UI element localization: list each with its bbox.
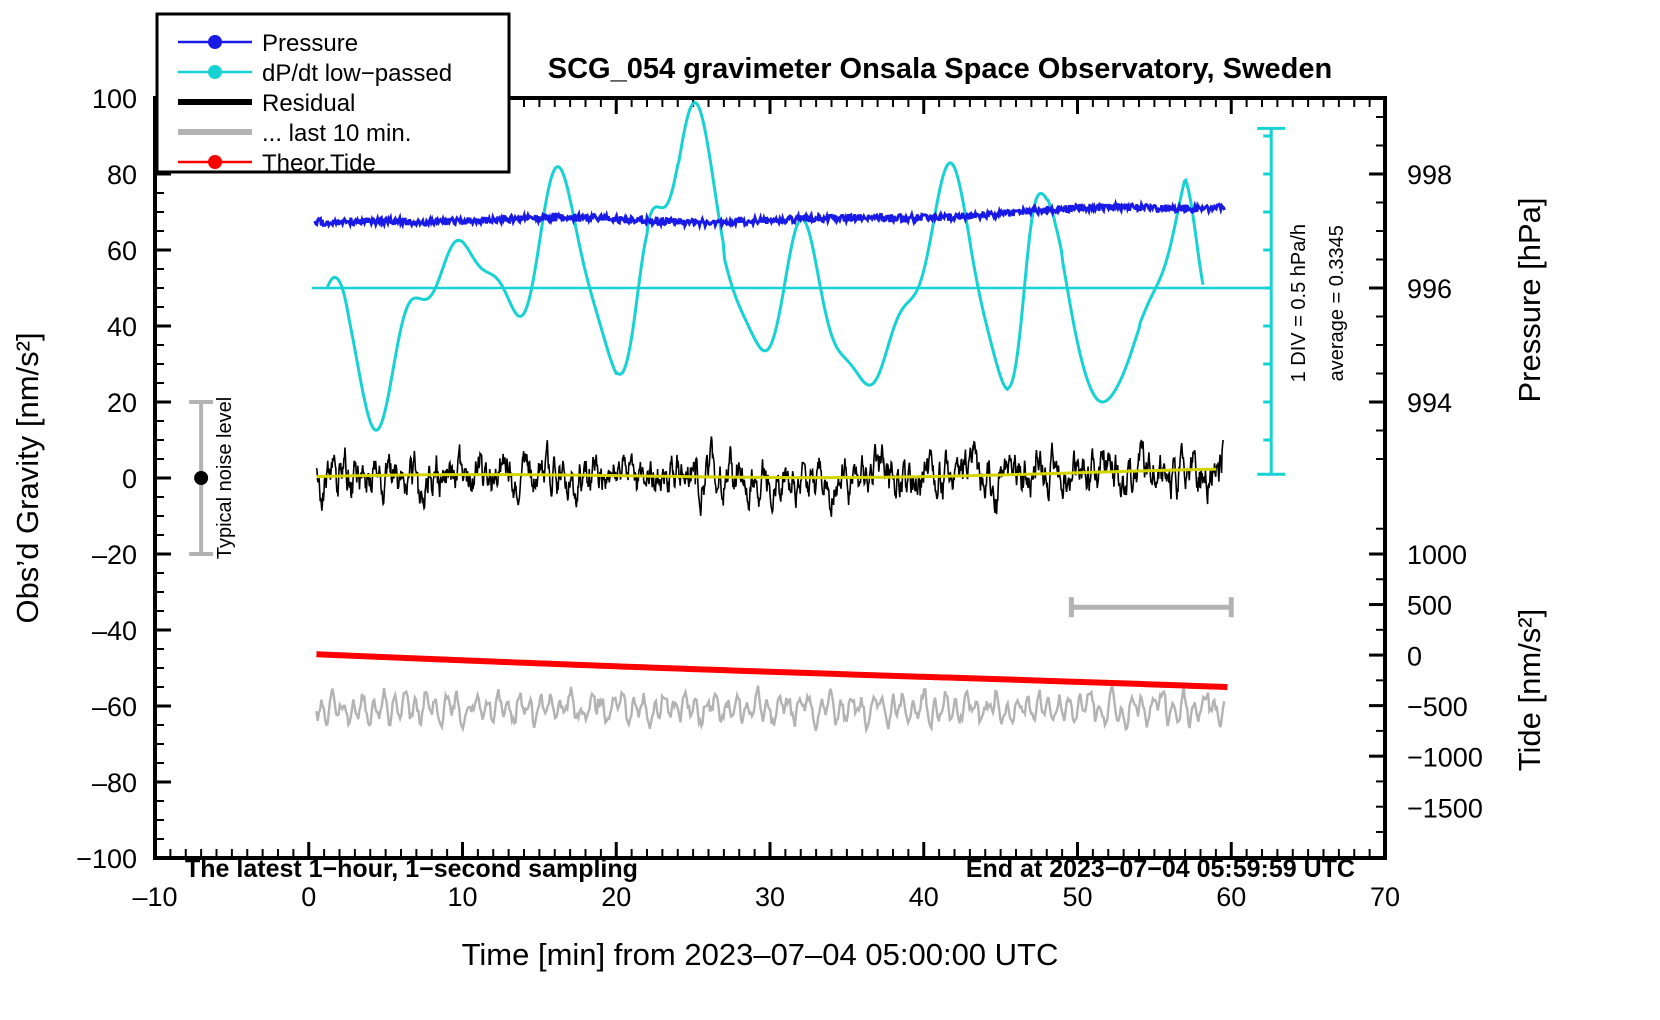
y-tick-label: 100 [92,84,137,114]
x-tick-label: 0 [301,882,316,912]
legend-item-label: Pressure [262,30,358,57]
x-tick-label: 70 [1370,882,1400,912]
dpdt-average-label: average = 0.3345 [1326,225,1348,381]
y-tick-label: 80 [107,160,137,190]
chart-page: ‒10010203040506070 100806040200‒20‒40‒60… [0,0,1660,1020]
right-tide-tick-label: 500 [1407,591,1452,621]
y-tick-label: ‒60 [92,692,137,722]
y-tick-label: 20 [107,388,137,418]
dpdt-div-label: 1 DIV = 0.5 hPa/h [1288,224,1310,382]
y-tick-label: ‒80 [92,768,137,798]
y-axis-title: Obs’d Gravity [nm/s²] [10,332,45,623]
y-tick-label: ‒20 [92,540,137,570]
x-tick-label: 10 [447,882,477,912]
x-tick-label: 60 [1216,882,1246,912]
y-tick-label: 40 [107,312,137,342]
x-tick-label: 40 [909,882,939,912]
right-axis-title-pressure: Pressure [hPa] [1512,197,1547,402]
legend-item-label: Residual [262,90,355,117]
right-pressure-tick-label: 998 [1407,160,1452,190]
legend-item-label: Theor.Tide [262,150,376,177]
right-axis-title-tide: Tide [nm/s²] [1512,609,1547,772]
gravimeter-chart: ‒10010203040506070 100806040200‒20‒40‒60… [0,0,1660,1020]
x-tick-label: 50 [1062,882,1092,912]
legend-item-label: dP/dt low−passed [262,60,452,87]
y-tick-label: 0 [122,464,137,494]
x-tick-label: ‒10 [132,882,177,912]
right-pressure-tick-label: 996 [1407,274,1452,304]
y-tick-label: −100 [76,844,137,874]
legend: PressuredP/dt low−passedResidual... last… [157,14,509,177]
y-tick-label: 60 [107,236,137,266]
footer-left-note: The latest 1−hour, 1−second sampling [185,855,638,883]
right-tide-tick-label: 1000 [1407,540,1467,570]
right-tide-tick-label: −1500 [1407,793,1483,823]
right-tide-tick-label: −1000 [1407,743,1483,773]
x-axis-title: Time [min] from 2023‒07‒04 05:00:00 UTC [462,937,1059,972]
right-tide-tick-label: −500 [1407,692,1468,722]
typical-noise-level-label: Typical noise level [214,397,236,559]
footer-right-note: End at 2023−07−04 05:59:59 UTC [966,855,1355,883]
chart-title: SCG_054 gravimeter Onsala Space Observat… [548,53,1332,85]
y-tick-label: ‒40 [92,616,137,646]
x-tick-label: 30 [755,882,785,912]
legend-item-label: ... last 10 min. [262,120,411,147]
x-tick-label: 20 [601,882,631,912]
right-pressure-tick-label: 994 [1407,388,1452,418]
right-tide-tick-label: 0 [1407,641,1422,671]
